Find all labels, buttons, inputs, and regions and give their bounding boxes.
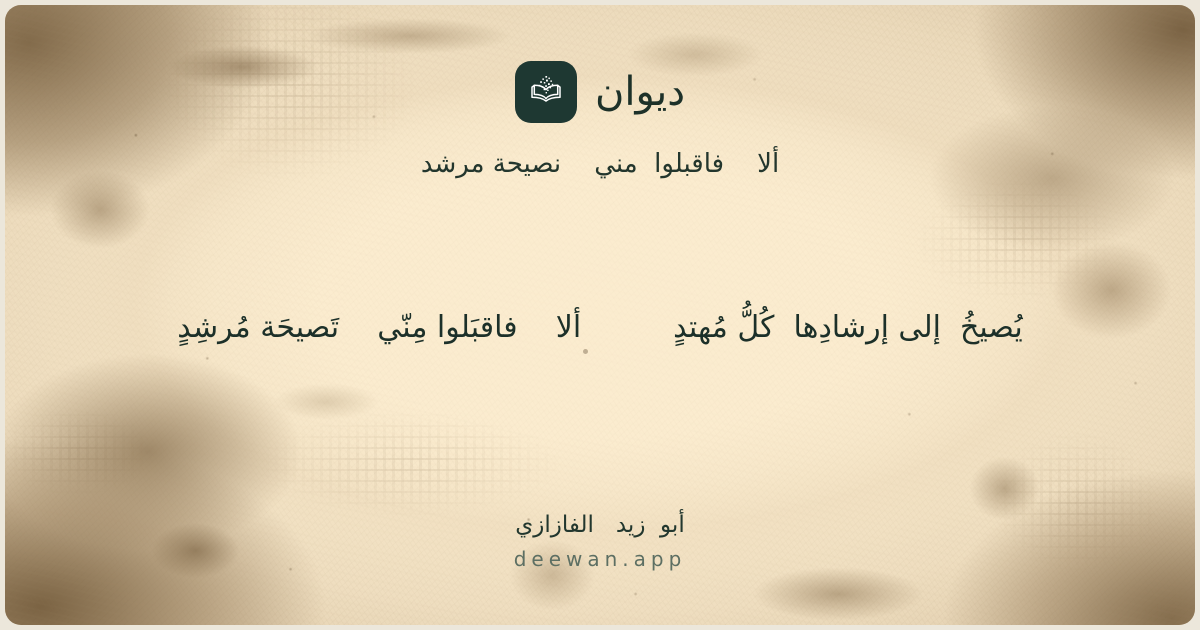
card-footer: أبو زيد الفازازي deewan.app — [5, 512, 1195, 571]
brand-title: ديوان — [595, 72, 685, 112]
verse-separator-dot — [583, 349, 588, 354]
verse-line: ألا فاقبَلوا مِنّي تَصيحَة مُرشِدٍ يُصيخ… — [5, 305, 1195, 350]
poem-subtitle: ألا فاقبلوا مني نصيحة مرشد — [421, 149, 779, 179]
poet-name: أبو زيد الفازازي — [515, 512, 684, 538]
open-book-sparkles-icon — [527, 73, 565, 111]
poem-card: ديوان ألا فاقبلوا مني نصيحة مرشد ألا فاق… — [0, 0, 1200, 630]
brand-lockup[interactable]: ديوان — [515, 61, 685, 123]
verse-second-hemistich: يُصيخُ إلى إرشادِها كُلُّ مُهتدٍ — [673, 305, 1023, 350]
verse-first-hemistich: ألا فاقبَلوا مِنّي تَصيحَة مُرشِدٍ — [177, 305, 581, 350]
app-logo — [515, 61, 577, 123]
paper-surface: ديوان ألا فاقبلوا مني نصيحة مرشد ألا فاق… — [5, 5, 1195, 625]
site-url[interactable]: deewan.app — [514, 547, 687, 571]
card-content: ديوان ألا فاقبلوا مني نصيحة مرشد ألا فاق… — [5, 5, 1195, 625]
